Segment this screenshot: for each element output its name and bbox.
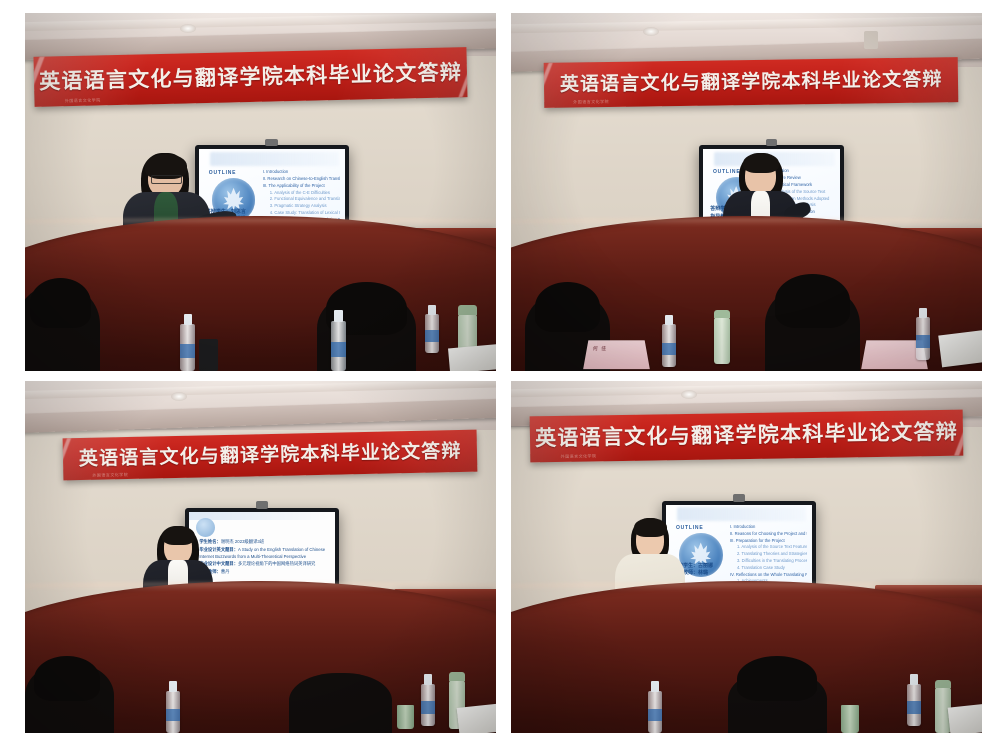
- water-bottle: [907, 684, 921, 726]
- documents: [448, 344, 496, 371]
- slide-info-row: 学生姓名：谢明杰 2023级翻译3班: [199, 538, 329, 545]
- event-banner: 英语语言文化与翻译学院本科毕业论文答辩 外国语言文化学院: [34, 47, 468, 107]
- tea-cup: [841, 705, 859, 733]
- water-bottle: [166, 691, 180, 733]
- slide-info-value: 多元理论视角下的中国网络热词英译研究: [238, 561, 315, 566]
- bullet-item: 1. Analysis of the C-E Difficulties: [270, 190, 340, 197]
- banner-title: 英语语言文化与翻译学院本科毕业论文答辩: [535, 422, 958, 450]
- slide-info-row: 毕业设计中文题目：多元理论视角下的中国网络热词英译研究: [199, 560, 329, 567]
- bullet-item: II. Reasons for Choosing the Project and…: [730, 531, 807, 538]
- water-bottle: [331, 321, 346, 371]
- bullet-item: I. Introduction: [263, 169, 340, 176]
- nameplate: 何 佳: [584, 340, 651, 368]
- tea-cup: [397, 705, 414, 730]
- event-banner: 英语语言文化与翻译学院本科毕业论文答辩 外国语言文化学院: [544, 57, 959, 108]
- slide-info-value: 谢明杰 2023级翻译3班: [221, 539, 264, 544]
- bullet-item: 1. Analysis of the Source Text Features: [737, 544, 807, 551]
- glasses-icon: [151, 175, 182, 184]
- bullet-item: I. Introduction: [730, 524, 807, 531]
- banner-subtitle: 外国语言文化学院: [560, 453, 596, 460]
- banner-title: 英语语言文化与翻译学院本科毕业论文答辩: [39, 62, 462, 93]
- bullet-item: III. Preparation for the Project: [730, 538, 807, 545]
- slide-info-lines: 学生姓名：谢明杰 2023级翻译3班 毕业设计英文题目：A Study on t…: [199, 538, 329, 575]
- bullet-item: 2. Functional Equivalence and Translatio…: [270, 196, 340, 203]
- event-banner: 英语语言文化与翻译学院本科毕业论文答辩 外国语言文化学院: [529, 409, 963, 462]
- banner-title: 英语语言文化与翻译学院本科毕业论文答辩: [560, 70, 943, 94]
- water-bottle: [425, 314, 438, 353]
- water-bottle: [916, 317, 930, 360]
- bullet-item: II. Research on Chinese-to-English Trans…: [263, 176, 340, 183]
- water-bottle: [662, 324, 676, 367]
- water-bottle: [648, 691, 662, 733]
- thermos-flask: [714, 317, 730, 364]
- banner-subtitle: 外国语言文化学院: [92, 471, 128, 478]
- event-banner: 英语语言文化与翻译学院本科毕业论文答辩 外国语言文化学院: [62, 429, 477, 480]
- slide-info-row: 毕业设计英文题目：A Study on the English Translat…: [199, 546, 329, 561]
- photo-panel-bottom-right: 英语语言文化与翻译学院本科毕业论文答辩 外国语言文化学院 OUTLINE 答辩学…: [511, 381, 982, 733]
- documents: [948, 702, 982, 733]
- documents: [938, 328, 982, 367]
- audience-member: [289, 673, 393, 733]
- ceiling-sensor: [864, 31, 878, 49]
- banner-subtitle: 外国语言文化学院: [65, 98, 101, 105]
- bullet-item: 2. Translating Theories and Strategies I…: [737, 551, 807, 558]
- bullet-item: 3. Difficulties in the Translating Proce…: [737, 558, 807, 565]
- banner-subtitle: 外国语言文化学院: [573, 98, 609, 104]
- photo-collage: 英语语言文化与翻译学院本科毕业论文答辩 外国语言文化学院 OUTLINE: [0, 0, 1000, 749]
- banner-title: 英语语言文化与翻译学院本科毕业论文答辩: [78, 441, 461, 468]
- nameplate-text: 何 佳: [593, 346, 608, 353]
- water-bottle: [180, 324, 195, 371]
- microphone: [199, 339, 218, 371]
- documents: [457, 702, 496, 733]
- photo-panel-top-left: 英语语言文化与翻译学院本科毕业论文答辩 外国语言文化学院 OUTLINE: [25, 13, 496, 371]
- bullet-item: III. The Applicability of the Project: [263, 183, 340, 190]
- photo-panel-top-right: 英语语言文化与翻译学院本科毕业论文答辩 外国语言文化学院 OUTLINE 答辩学…: [511, 13, 982, 371]
- photo-panel-bottom-left: 英语语言文化与翻译学院本科毕业论文答辩 外国语言文化学院 学生姓名：谢明杰 20…: [25, 381, 496, 733]
- water-bottle: [421, 684, 435, 726]
